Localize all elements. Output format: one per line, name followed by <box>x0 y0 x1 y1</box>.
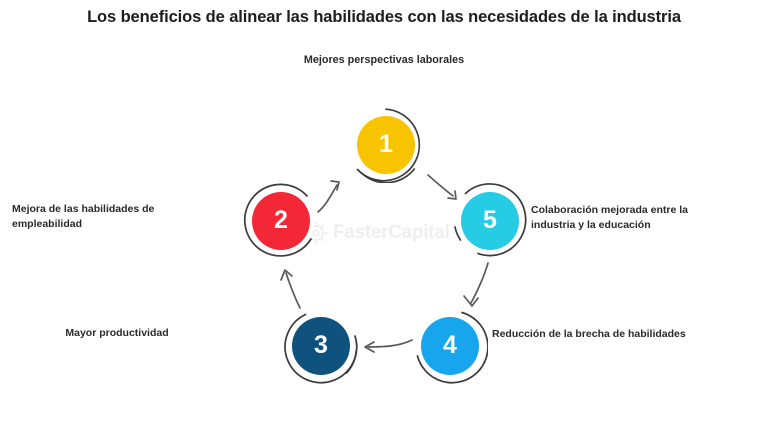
node-3-number: 3 <box>314 333 328 358</box>
label-node-5-line1: Colaboración mejorada entre la <box>531 203 751 218</box>
label-node-2-line2: empleabilidad <box>12 217 192 232</box>
arrow-5-to-4-head <box>464 296 478 306</box>
page-title: Los beneficios de alinear las habilidade… <box>0 6 768 28</box>
node-4-number: 4 <box>443 333 457 358</box>
node-2-disc: 2 <box>252 192 310 250</box>
cycle-node-1[interactable]: 1 <box>348 107 424 183</box>
node-5-disc: 5 <box>461 192 519 250</box>
arrow-4-to-3 <box>368 340 412 347</box>
cycle-node-2[interactable]: 2 <box>243 183 319 259</box>
arrow-2-to-1 <box>318 185 337 212</box>
diagram-canvas: Los beneficios de alinear las habilidade… <box>0 0 768 432</box>
node-3-disc: 3 <box>292 317 350 375</box>
label-node-5-line2: industria y la educación <box>531 218 751 233</box>
label-node-2: Mejora de las habilidades de empleabilid… <box>12 202 192 231</box>
label-node-5: Colaboración mejorada entre la industria… <box>531 203 751 232</box>
arrow-4-to-3-head <box>365 342 374 352</box>
label-node-4: Reducción de la brecha de habilidades <box>492 327 758 342</box>
arrow-3-to-2 <box>286 273 300 308</box>
arrow-5-to-4 <box>471 263 488 303</box>
cycle-node-4[interactable]: 4 <box>412 308 488 384</box>
node-1-disc: 1 <box>357 116 415 174</box>
arrow-2-to-1-head <box>331 181 339 190</box>
watermark-text: FasterCapital <box>333 222 449 244</box>
arrow-1-to-5 <box>428 175 453 196</box>
label-node-2-line1: Mejora de las habilidades de <box>12 202 192 217</box>
cycle-node-3[interactable]: 3 <box>283 308 359 384</box>
node-4-disc: 4 <box>421 317 479 375</box>
node-2-number: 2 <box>274 208 288 233</box>
arrow-3-to-2-head <box>281 270 292 280</box>
node-5-number: 5 <box>483 208 497 233</box>
node-1-number: 1 <box>379 132 393 157</box>
cycle-node-5[interactable]: 5 <box>452 183 528 259</box>
label-node-1: Mejores perspectivas laborales <box>0 53 768 68</box>
label-node-3: Mayor productividad <box>12 326 222 341</box>
